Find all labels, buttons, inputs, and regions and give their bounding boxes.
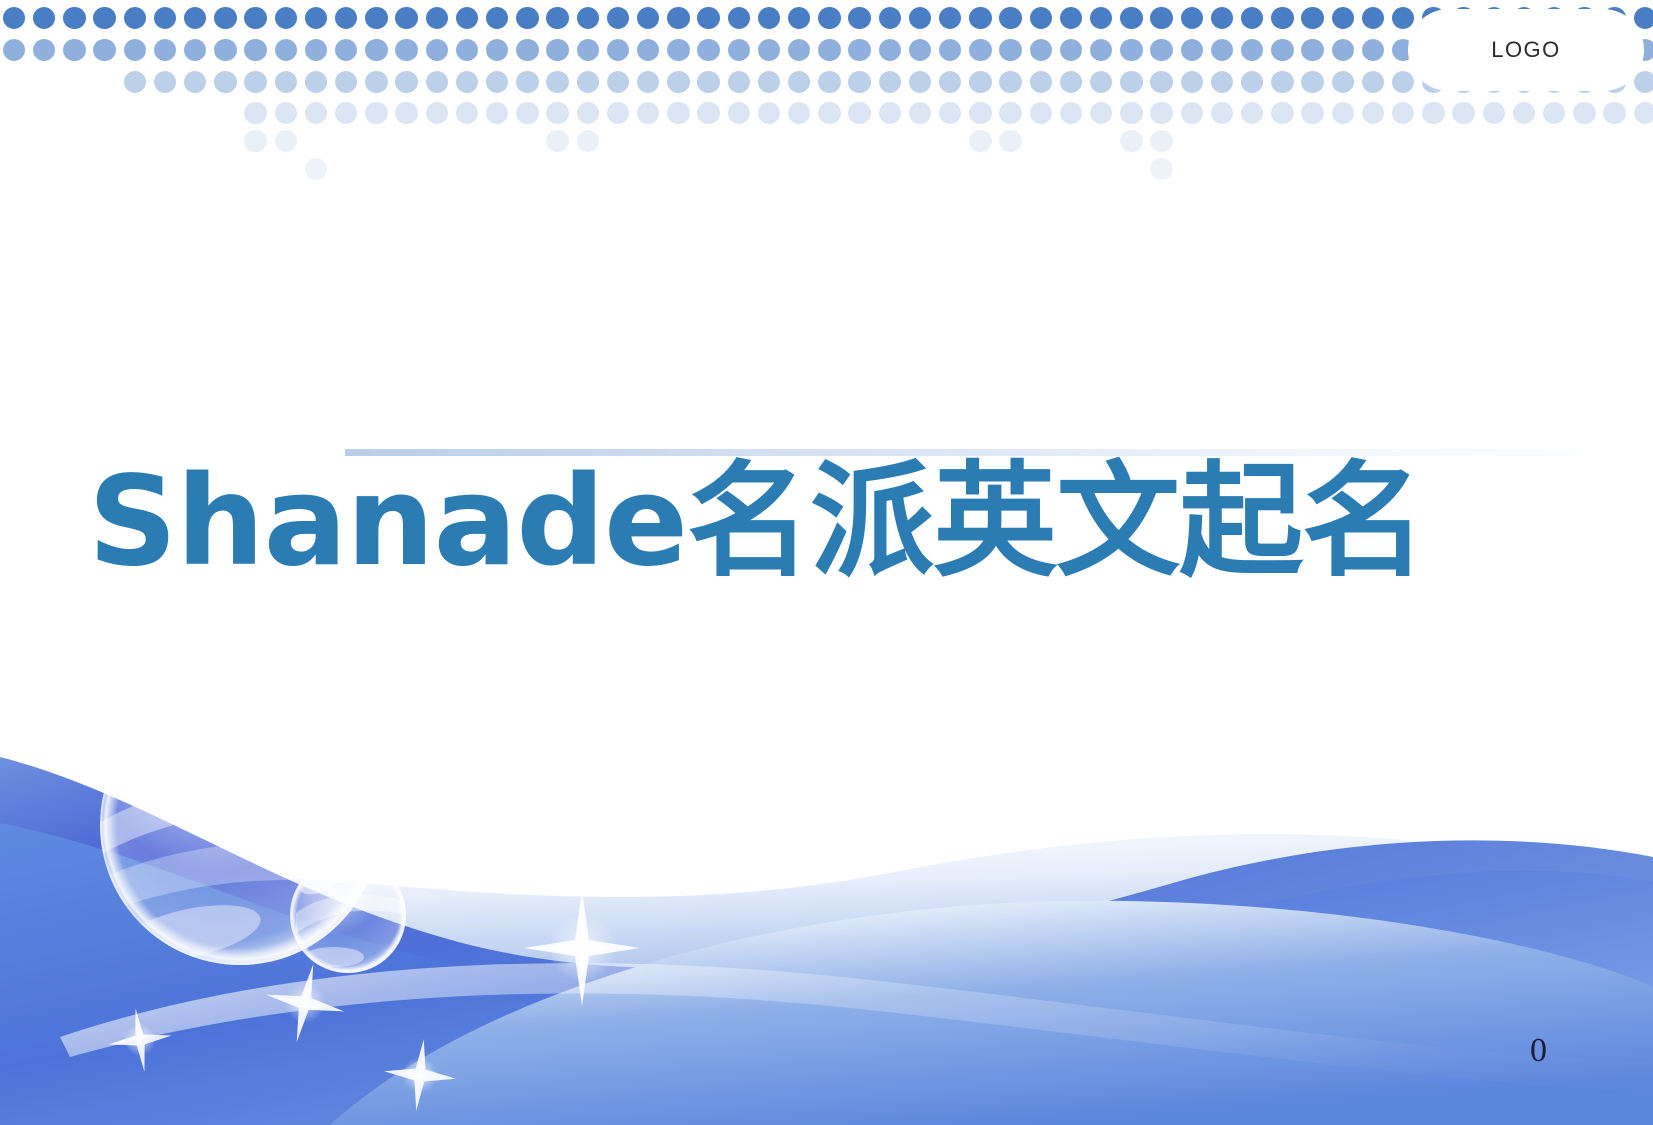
halftone-dot: [1362, 39, 1384, 61]
halftone-dot: [758, 71, 780, 93]
halftone-dot: [184, 71, 206, 93]
halftone-dot: [607, 7, 629, 29]
halftone-dot: [456, 39, 478, 61]
halftone-dot: [93, 7, 115, 29]
halftone-dot: [1241, 102, 1263, 124]
halftone-dot: [667, 39, 689, 61]
halftone-dot: [244, 39, 266, 61]
halftone-dot: [577, 7, 599, 29]
halftone-dot: [879, 102, 901, 124]
halftone-dot: [1120, 130, 1142, 152]
halftone-dot: [214, 71, 236, 93]
halftone-dot: [939, 7, 961, 29]
halftone-dot: [1060, 71, 1082, 93]
halftone-dot: [395, 39, 417, 61]
halftone-dot: [879, 71, 901, 93]
halftone-dot: [305, 7, 327, 29]
halftone-dot: [1301, 102, 1323, 124]
halftone-dot: [637, 7, 659, 29]
halftone-dot: [999, 130, 1021, 152]
halftone-dot: [1271, 71, 1293, 93]
halftone-dot: [667, 102, 689, 124]
halftone-dot: [214, 39, 236, 61]
halftone-dot: [1241, 39, 1263, 61]
halftone-dot: [1090, 102, 1112, 124]
halftone-dot: [728, 39, 750, 61]
halftone-dot: [1090, 7, 1112, 29]
halftone-dot: [1150, 7, 1172, 29]
halftone-dot: [818, 102, 840, 124]
halftone-dot: [1030, 7, 1052, 29]
halftone-dot: [848, 102, 870, 124]
halftone-dot: [637, 71, 659, 93]
halftone-dot: [1181, 39, 1203, 61]
halftone-dot: [486, 71, 508, 93]
halftone-dot: [1422, 102, 1444, 124]
halftone-dot: [1090, 71, 1112, 93]
halftone-dot: [33, 39, 55, 61]
halftone-dot: [1483, 102, 1505, 124]
halftone-dot: [1332, 71, 1354, 93]
halftone-dot: [667, 7, 689, 29]
halftone-dot: [3, 39, 25, 61]
halftone-dot: [335, 71, 357, 93]
halftone-dot: [1211, 39, 1233, 61]
halftone-dot: [154, 7, 176, 29]
halftone-dot: [244, 71, 266, 93]
halftone-dot: [184, 7, 206, 29]
halftone-dot: [1362, 102, 1384, 124]
halftone-dot: [1362, 7, 1384, 29]
slide-canvas: LOGO Shanade名派英文起名: [0, 0, 1653, 1125]
halftone-dot: [1120, 71, 1142, 93]
halftone-dot: [1332, 39, 1354, 61]
halftone-dot: [486, 102, 508, 124]
page-number: 0: [1530, 1032, 1547, 1070]
halftone-dot: [1181, 7, 1203, 29]
halftone-dot: [275, 39, 297, 61]
halftone-dot: [1573, 102, 1595, 124]
halftone-dot: [546, 7, 568, 29]
wave-bubbles-artwork: [0, 645, 1653, 1125]
halftone-dot: [909, 39, 931, 61]
halftone-dot: [214, 7, 236, 29]
halftone-dot: [879, 39, 901, 61]
page-title: Shanade名派英文起名: [0, 452, 1653, 592]
halftone-dot: [486, 7, 508, 29]
halftone-dot: [184, 39, 206, 61]
halftone-dot: [1301, 7, 1323, 29]
halftone-dot: [939, 39, 961, 61]
halftone-dot: [1271, 39, 1293, 61]
halftone-dot: [607, 71, 629, 93]
halftone-dot: [275, 7, 297, 29]
halftone-dot: [818, 7, 840, 29]
halftone-dot: [1241, 7, 1263, 29]
halftone-dot: [63, 7, 85, 29]
halftone-dot: [1332, 7, 1354, 29]
halftone-dot: [697, 39, 719, 61]
halftone-dot: [969, 39, 991, 61]
halftone-dot: [818, 71, 840, 93]
halftone-dot: [1120, 7, 1142, 29]
halftone-dot: [1120, 102, 1142, 124]
halftone-dot: [275, 130, 297, 152]
halftone-dot: [999, 71, 1021, 93]
halftone-dot: [1030, 71, 1052, 93]
halftone-dot: [1030, 102, 1052, 124]
halftone-dot: [426, 39, 448, 61]
halftone-dot: [1060, 39, 1082, 61]
logo-text: LOGO: [1491, 37, 1561, 63]
halftone-dot: [909, 71, 931, 93]
halftone-dot: [1030, 39, 1052, 61]
halftone-dot: [516, 71, 538, 93]
halftone-dot: [426, 71, 448, 93]
halftone-dot: [939, 71, 961, 93]
halftone-dot: [607, 102, 629, 124]
halftone-dot: [1150, 39, 1172, 61]
halftone-dot: [848, 39, 870, 61]
halftone-dot: [154, 71, 176, 93]
halftone-dot: [1301, 71, 1323, 93]
halftone-dot: [365, 71, 387, 93]
page-title-text: Shanade名派英文起名: [88, 452, 1653, 592]
halftone-dot: [275, 71, 297, 93]
halftone-dot: [577, 39, 599, 61]
halftone-dot: [335, 7, 357, 29]
halftone-dot: [577, 130, 599, 152]
halftone-dot: [516, 102, 538, 124]
halftone-dot: [909, 7, 931, 29]
halftone-dot: [275, 102, 297, 124]
halftone-dot: [546, 39, 568, 61]
halftone-dot: [124, 39, 146, 61]
halftone-dot: [637, 39, 659, 61]
halftone-dot: [999, 7, 1021, 29]
halftone-dot: [516, 39, 538, 61]
halftone-dot: [788, 71, 810, 93]
halftone-dot: [456, 71, 478, 93]
halftone-dot: [335, 102, 357, 124]
halftone-dot: [3, 7, 25, 29]
halftone-dot: [1634, 71, 1653, 93]
halftone-dot: [788, 7, 810, 29]
halftone-dot: [1181, 71, 1203, 93]
halftone-dot: [1060, 7, 1082, 29]
halftone-dot: [697, 102, 719, 124]
halftone-dot: [939, 102, 961, 124]
halftone-dot: [1452, 102, 1474, 124]
halftone-dot: [124, 7, 146, 29]
halftone-dot: [969, 71, 991, 93]
halftone-dot: [1271, 7, 1293, 29]
halftone-dot: [728, 7, 750, 29]
halftone-dot: [154, 39, 176, 61]
halftone-dot: [456, 102, 478, 124]
halftone-dot: [1150, 102, 1172, 124]
halftone-dot: [1211, 102, 1233, 124]
halftone-dot: [244, 7, 266, 29]
halftone-dot: [395, 7, 417, 29]
halftone-dot: [607, 39, 629, 61]
halftone-dot: [637, 102, 659, 124]
halftone-dot: [1241, 71, 1263, 93]
halftone-dot: [1543, 102, 1565, 124]
halftone-dot: [758, 39, 780, 61]
halftone-dot: [848, 7, 870, 29]
halftone-dot: [1271, 102, 1293, 124]
halftone-dot: [969, 7, 991, 29]
halftone-dot: [365, 7, 387, 29]
halftone-dot: [426, 7, 448, 29]
halftone-dot: [1211, 71, 1233, 93]
halftone-dot: [969, 130, 991, 152]
halftone-dot: [244, 102, 266, 124]
halftone-dot: [1603, 102, 1625, 124]
halftone-dot: [1090, 39, 1112, 61]
halftone-dot: [1301, 39, 1323, 61]
halftone-dot: [577, 71, 599, 93]
halftone-dot: [788, 102, 810, 124]
halftone-dot: [305, 39, 327, 61]
halftone-dot: [758, 7, 780, 29]
halftone-dot: [788, 39, 810, 61]
halftone-dot: [1332, 102, 1354, 124]
halftone-dot: [1060, 102, 1082, 124]
halftone-dot: [1513, 102, 1535, 124]
halftone-dot: [93, 39, 115, 61]
halftone-dot: [1181, 102, 1203, 124]
halftone-dot: [546, 102, 568, 124]
halftone-dot: [516, 7, 538, 29]
halftone-dot: [1362, 71, 1384, 93]
halftone-dot: [395, 102, 417, 124]
halftone-dot: [426, 102, 448, 124]
halftone-dot: [1392, 102, 1414, 124]
halftone-dot: [1150, 130, 1172, 152]
halftone-dot: [758, 102, 780, 124]
halftone-dot: [969, 102, 991, 124]
halftone-dot: [848, 71, 870, 93]
halftone-dot: [1634, 102, 1653, 124]
halftone-dot: [999, 102, 1021, 124]
halftone-dot: [697, 71, 719, 93]
halftone-dot: [1392, 7, 1414, 29]
halftone-dot: [486, 39, 508, 61]
halftone-dot: [728, 102, 750, 124]
halftone-dot: [305, 102, 327, 124]
halftone-dot: [879, 7, 901, 29]
halftone-dot: [1120, 39, 1142, 61]
halftone-dot: [365, 39, 387, 61]
halftone-dot: [667, 71, 689, 93]
halftone-dot: [1150, 71, 1172, 93]
halftone-dot: [546, 130, 568, 152]
halftone-dot: [395, 71, 417, 93]
halftone-dot: [365, 102, 387, 124]
halftone-dot: [546, 71, 568, 93]
halftone-dot: [335, 39, 357, 61]
halftone-dot: [244, 130, 266, 152]
halftone-dot: [124, 71, 146, 93]
halftone-dot: [1150, 158, 1172, 180]
halftone-dot: [999, 39, 1021, 61]
dot-halftone-band: [0, 0, 1653, 200]
halftone-dot: [1211, 7, 1233, 29]
halftone-dot: [818, 39, 840, 61]
halftone-dot: [697, 7, 719, 29]
halftone-dot: [909, 102, 931, 124]
halftone-dot: [63, 39, 85, 61]
halftone-dot: [33, 7, 55, 29]
halftone-dot: [577, 102, 599, 124]
halftone-dot: [305, 158, 327, 180]
halftone-dot: [1392, 71, 1414, 93]
logo-placeholder[interactable]: LOGO: [1408, 9, 1644, 91]
halftone-dot: [728, 71, 750, 93]
halftone-dot: [305, 71, 327, 93]
halftone-dot: [456, 7, 478, 29]
